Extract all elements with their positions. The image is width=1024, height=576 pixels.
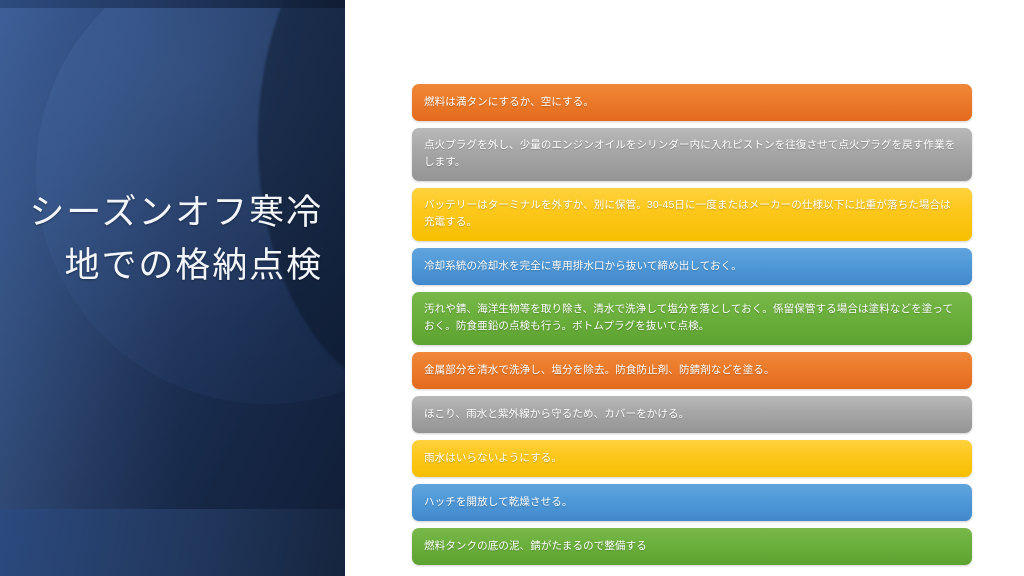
process-bar-label: ほこり、雨水と紫外線から守るため、カバーをかける。 <box>424 406 960 423</box>
process-bar-label: 冷却系統の冷却水を完全に専用排水口から抜いて締め出しておく。 <box>424 258 960 275</box>
process-bar[interactable]: バッテリーはターミナルを外すか、別に保管。30-45日に一度またはメーカーの仕様… <box>412 188 972 241</box>
process-bar-label: 金属部分を清水で洗浄し、塩分を除去。防食防止剤、防錆剤などを塗る。 <box>424 362 960 379</box>
title-panel: シーズンオフ寒冷地での格納点検 <box>0 0 345 576</box>
process-bar-label: 点火プラグを外し、少量のエンジンオイルをシリンダー内に入れピストンを往復させて点… <box>424 137 960 171</box>
process-bar[interactable]: 雨水はいらないようにする。 <box>412 440 972 477</box>
process-bar[interactable]: ハッチを開放して乾燥させる。 <box>412 484 972 521</box>
slide: シーズンオフ寒冷地での格納点検 燃料は満タンにするか、空にする。 点火プラグを外… <box>0 0 1024 576</box>
process-bar-label: 雨水はいらないようにする。 <box>424 450 960 467</box>
process-bar-label: ハッチを開放して乾燥させる。 <box>424 494 960 511</box>
slide-title: シーズンオフ寒冷地での格納点検 <box>20 186 323 292</box>
process-bar[interactable]: 金属部分を清水で洗浄し、塩分を除去。防食防止剤、防錆剤などを塗る。 <box>412 352 972 389</box>
process-bar[interactable]: 燃料は満タンにするか、空にする。 <box>412 84 972 121</box>
decorative-band-bottom <box>0 509 345 576</box>
process-bar[interactable]: ほこり、雨水と紫外線から守るため、カバーをかける。 <box>412 396 972 433</box>
process-bar[interactable]: 冷却系統の冷却水を完全に専用排水口から抜いて締め出しておく。 <box>412 248 972 285</box>
process-bar[interactable]: 汚れや錆、海洋生物等を取り除き、清水で洗浄して塩分を落としておく。係留保管する場… <box>412 292 972 345</box>
process-bar[interactable]: 点火プラグを外し、少量のエンジンオイルをシリンダー内に入れピストンを往復させて点… <box>412 128 972 181</box>
process-bar-label: バッテリーはターミナルを外すか、別に保管。30-45日に一度またはメーカーの仕様… <box>424 197 960 231</box>
process-bar-label: 汚れや錆、海洋生物等を取り除き、清水で洗浄して塩分を落としておく。係留保管する場… <box>424 301 960 335</box>
process-bar[interactable]: 燃料タンクの底の泥、錆がたまるので整備する <box>412 528 972 565</box>
content-panel: 燃料は満タンにするか、空にする。 点火プラグを外し、少量のエンジンオイルをシリン… <box>345 0 1024 576</box>
decorative-band-top <box>0 0 345 8</box>
process-bar-list: 燃料は満タンにするか、空にする。 点火プラグを外し、少量のエンジンオイルをシリン… <box>412 84 972 565</box>
process-bar-label: 燃料タンクの底の泥、錆がたまるので整備する <box>424 538 960 555</box>
process-bar-label: 燃料は満タンにするか、空にする。 <box>424 94 960 111</box>
